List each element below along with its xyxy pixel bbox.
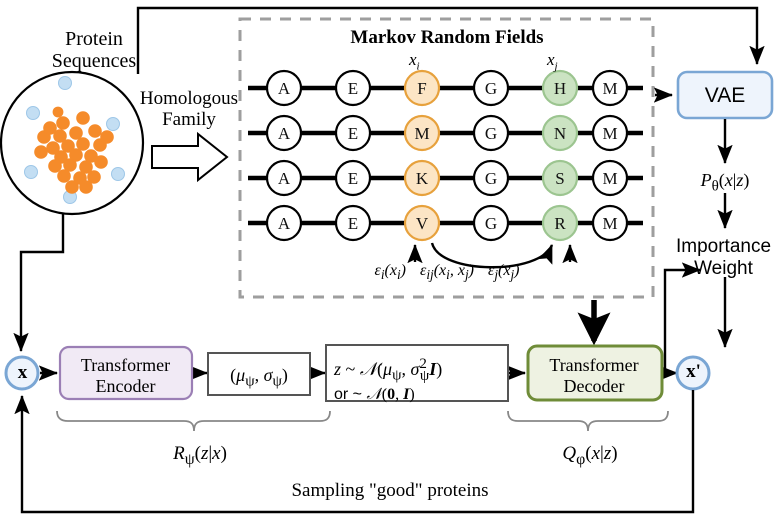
decoder-brace <box>508 411 668 431</box>
svg-text:K: K <box>416 169 429 188</box>
homologous-family-caption: Homologous Family <box>128 88 250 131</box>
svg-text:M: M <box>602 124 617 143</box>
vae-label: VAE <box>678 84 772 108</box>
svg-text:G: G <box>485 214 497 233</box>
svg-text:E: E <box>348 169 358 188</box>
svg-text:A: A <box>278 124 291 143</box>
unary-potential-j: εj(xj) <box>488 262 519 283</box>
mrf-title: Markov Random Fields <box>240 27 654 48</box>
likelihood-label: Pθ(x|z) <box>672 170 778 195</box>
svg-text:M: M <box>602 169 617 188</box>
encoder-brace-label: Rψ(z|x) <box>120 443 280 469</box>
svg-text:G: G <box>485 124 497 143</box>
potential-functions-row: εi(xi) εij(xi, xj) εj(xj) <box>240 262 654 283</box>
params-box-label: (μψ, σψ) <box>210 365 308 390</box>
decoder-brace-label: Qφ(x|z) <box>510 443 670 469</box>
svg-text:R: R <box>554 214 566 233</box>
svg-text:M: M <box>602 214 617 233</box>
sampler-box-label: z ~ 𝒩(μψ, σ2ψI) or ~ 𝒩(0, I) <box>328 355 496 404</box>
xi-column-label: xi <box>409 50 420 72</box>
sequences-to-input-wire <box>21 213 63 351</box>
pairwise-potential-ij: εij(xi, xj) <box>420 262 474 283</box>
protein-sequence-cloud <box>1 72 143 214</box>
output-node-label: x' <box>677 361 710 382</box>
protein-sequences-caption: Protein Sequences <box>24 28 164 73</box>
svg-text:V: V <box>416 214 429 233</box>
svg-text:E: E <box>348 214 358 233</box>
mrf-chains: A E F G H M A E M G <box>248 71 643 240</box>
homologous-family-arrow <box>152 134 227 180</box>
input-node-label: x <box>6 362 39 383</box>
svg-text:M: M <box>414 124 429 143</box>
mrf-dashed-box <box>240 19 653 297</box>
svg-text:N: N <box>554 124 566 143</box>
svg-text:G: G <box>485 79 497 98</box>
sampling-loop-label: Sampling "good" proteins <box>180 480 600 501</box>
svg-text:H: H <box>554 79 566 98</box>
svg-text:F: F <box>417 79 426 98</box>
svg-text:M: M <box>602 79 617 98</box>
unary-potential-i: εi(xi) <box>375 262 406 283</box>
svg-text:S: S <box>555 169 564 188</box>
xj-column-label: xj <box>547 50 558 72</box>
importance-weight-label: Importance Weight <box>666 236 781 280</box>
svg-text:E: E <box>348 79 358 98</box>
svg-text:E: E <box>348 124 358 143</box>
svg-text:A: A <box>278 169 291 188</box>
transformer-encoder-label: Transformer Encoder <box>64 355 187 397</box>
diagram-canvas: A E F G H M A E M G <box>0 0 781 526</box>
svg-text:G: G <box>485 169 497 188</box>
svg-text:A: A <box>278 214 291 233</box>
svg-text:A: A <box>278 79 291 98</box>
transformer-decoder-label: Transformer Decoder <box>533 355 655 397</box>
encoder-brace <box>57 411 330 431</box>
